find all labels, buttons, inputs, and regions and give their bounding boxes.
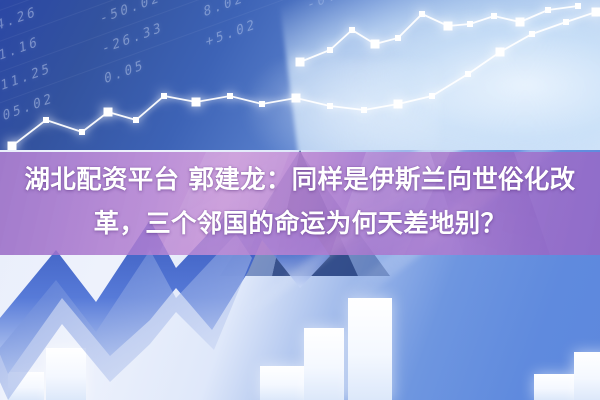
chart-node xyxy=(292,94,301,103)
chart-node xyxy=(104,108,113,117)
chart-node xyxy=(133,117,139,123)
chart-line xyxy=(12,12,596,146)
chart-node xyxy=(394,100,403,109)
bar xyxy=(348,298,392,400)
chart-node xyxy=(491,13,497,19)
chart-node xyxy=(529,31,535,37)
chart-node xyxy=(467,21,473,27)
chart-node xyxy=(545,7,551,13)
chart-node xyxy=(419,11,425,17)
image-canvas: -99.02-05.36+21.0345.02-11.25-99.02-05.3… xyxy=(0,0,600,400)
chart-node xyxy=(496,48,505,57)
chart-node xyxy=(327,103,333,109)
chart-node xyxy=(575,3,581,9)
bar xyxy=(574,352,600,400)
chart-node xyxy=(43,117,49,123)
chart-node xyxy=(395,35,401,41)
chart-node xyxy=(516,18,525,27)
chart-node xyxy=(296,58,305,67)
chart-node xyxy=(349,27,355,33)
page-title: 湖北配资平台 郭建龙：同样是伊斯兰向世俗化改革，三个邻国的命运为何天差地别？ xyxy=(0,158,600,246)
chart-node xyxy=(371,40,380,49)
chart-node xyxy=(79,129,85,135)
chart-node xyxy=(227,93,233,99)
chart-node xyxy=(465,71,471,77)
chart-node xyxy=(259,101,265,107)
chart-line xyxy=(300,6,578,62)
chart-node xyxy=(161,93,167,99)
chart-node xyxy=(444,22,453,31)
chart-node xyxy=(192,98,201,107)
chart-node xyxy=(563,19,569,25)
chart-node xyxy=(429,93,435,99)
chart-node xyxy=(361,107,367,113)
chart-node xyxy=(327,47,333,53)
chart-node xyxy=(592,8,600,17)
